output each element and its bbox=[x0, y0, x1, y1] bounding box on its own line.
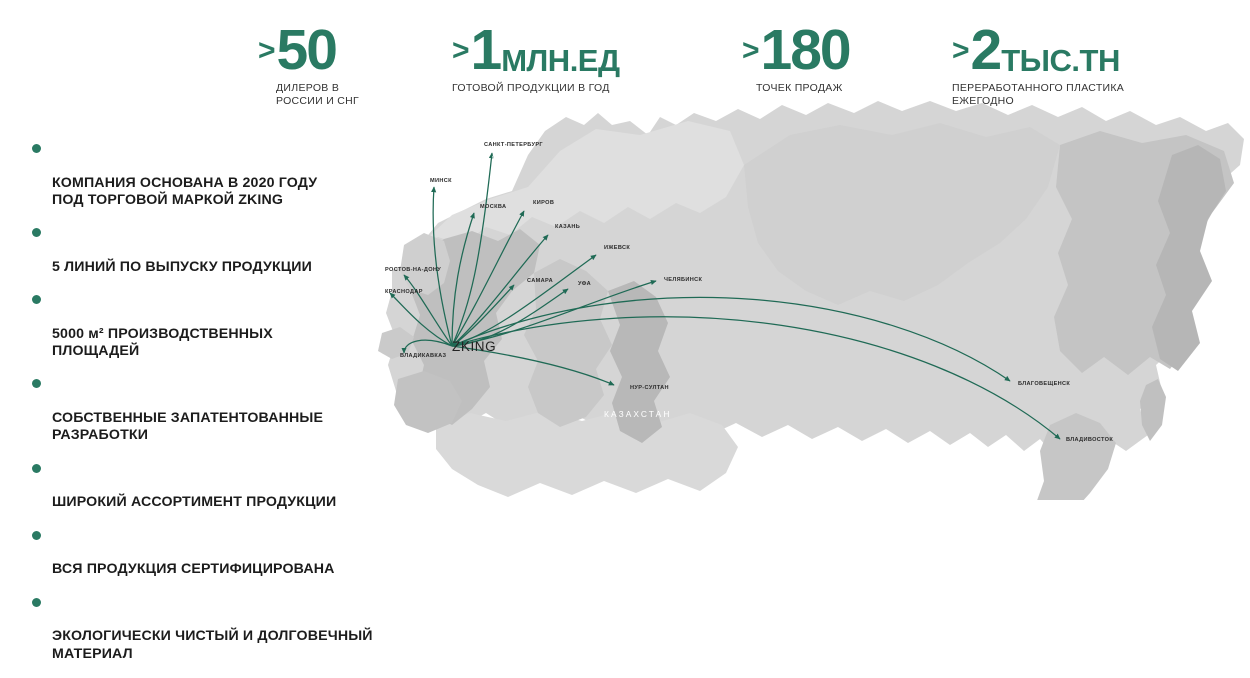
feature-item-certified: ВСЯ ПРОДУКЦИЯ СЕРТИФИЦИРОВАНА bbox=[32, 527, 392, 579]
city-label-samara: САМАРА bbox=[527, 278, 553, 284]
bullet-dot-icon bbox=[32, 379, 41, 388]
stat-plastic-number: 2 bbox=[971, 22, 1001, 79]
stat-points-caption: ТОЧЕК ПРОДАЖ bbox=[756, 82, 851, 95]
greater-than-icon: > bbox=[952, 36, 969, 66]
city-label-rostov-na-donu: РОСТОВ-НА-ДОНУ bbox=[385, 267, 441, 273]
feature-text: 5 ЛИНИЙ ПО ВЫПУСКУ ПРОДУКЦИИ bbox=[52, 259, 312, 275]
bullet-dot-icon bbox=[32, 295, 41, 304]
feature-text: СОБСТВЕННЫЕ ЗАПАТЕНТОВАННЫЕ РАЗРАБОТКИ bbox=[52, 410, 323, 443]
city-label-blagoveshchensk: БЛАГОВЕЩЕНСК bbox=[1018, 381, 1070, 387]
map-landmass bbox=[378, 101, 1244, 500]
feature-item-founded: КОМПАНИЯ ОСНОВАНА В 2020 ГОДУ ПОД ТОРГОВ… bbox=[32, 140, 392, 209]
country-label-belarus: БЕЛАРУСИЯ bbox=[430, 153, 500, 163]
bullet-dot-icon bbox=[32, 144, 41, 153]
infographic-root: БЕЛАРУСИЯ КАЗАХСТАН САНКТ-ПЕТЕРБУРГ МИНС… bbox=[0, 0, 1250, 500]
stat-dealers-caption: ДИЛЕРОВ В РОССИИ И СНГ bbox=[276, 82, 359, 108]
feature-item-assortment: ШИРОКИЙ АССОРТИМЕНТ ПРОДУКЦИИ bbox=[32, 460, 392, 512]
stat-points: > 180 ТОЧЕК ПРОДАЖ bbox=[742, 22, 851, 95]
city-label-nur-sultan: НУР-СУЛТАН bbox=[630, 385, 669, 391]
feature-item-eco: ЭКОЛОГИЧЕСКИ ЧИСТЫЙ И ДОЛГОВЕЧНЫЙ МАТЕРИ… bbox=[32, 594, 392, 663]
country-label-kazakhstan: КАЗАХСТАН bbox=[604, 409, 671, 419]
feature-text: КОМПАНИЯ ОСНОВАНА В 2020 ГОДУ ПОД ТОРГОВ… bbox=[52, 175, 317, 208]
stat-plastic-caption: ПЕРЕРАБОТАННОГО ПЛАСТИКА ЕЖЕГОДНО bbox=[952, 82, 1124, 108]
feature-text: ЭКОЛОГИЧЕСКИ ЧИСТЫЙ И ДОЛГОВЕЧНЫЙ МАТЕРИ… bbox=[52, 628, 373, 661]
stat-units-unit: МЛН.ЕД bbox=[501, 45, 619, 76]
greater-than-icon: > bbox=[258, 36, 275, 66]
stat-plastic: > 2 ТЫС.ТН ПЕРЕРАБОТАННОГО ПЛАСТИКА ЕЖЕГ… bbox=[952, 22, 1124, 108]
city-label-chelyabinsk: ЧЕЛЯБИНСК bbox=[664, 277, 702, 283]
stat-dealers-number: 50 bbox=[277, 22, 336, 79]
stat-plastic-unit: ТЫС.ТН bbox=[1001, 45, 1120, 76]
city-label-vladivostok: ВЛАДИВОСТОК bbox=[1066, 437, 1113, 443]
greater-than-icon: > bbox=[742, 36, 759, 66]
region-kazakhstan bbox=[436, 411, 738, 497]
feature-list: КОМПАНИЯ ОСНОВАНА В 2020 ГОДУ ПОД ТОРГОВ… bbox=[32, 140, 392, 678]
bullet-dot-icon bbox=[32, 531, 41, 540]
city-label-moskva: МОСКВА bbox=[480, 204, 506, 210]
feature-item-area: 5000 м² ПРОИЗВОДСТВЕННЫХ ПЛОЩАДЕЙ bbox=[32, 291, 392, 360]
greater-than-icon: > bbox=[452, 36, 469, 66]
stat-points-value: > 180 bbox=[742, 22, 851, 79]
city-label-ufa: УФА bbox=[578, 281, 591, 287]
city-label-kazan: КАЗАНЬ bbox=[555, 224, 580, 230]
stat-dealers-value: > 50 bbox=[258, 22, 359, 79]
city-label-vladikavkaz: ВЛАДИКАВКАЗ bbox=[400, 353, 446, 359]
feature-text: ВСЯ ПРОДУКЦИЯ СЕРТИФИЦИРОВАНА bbox=[52, 561, 335, 577]
stat-units: > 1 МЛН.ЕД ГОТОВОЙ ПРОДУКЦИИ В ГОД bbox=[452, 22, 620, 95]
stat-dealers: > 50 ДИЛЕРОВ В РОССИИ И СНГ bbox=[258, 22, 359, 108]
stat-units-value: > 1 МЛН.ЕД bbox=[452, 22, 620, 79]
hub-label-zking: ZKING bbox=[452, 339, 496, 354]
feature-text: 5000 м² ПРОИЗВОДСТВЕННЫХ ПЛОЩАДЕЙ bbox=[52, 326, 273, 359]
stats-row: > 50 ДИЛЕРОВ В РОССИИ И СНГ > 1 МЛН.ЕД Г… bbox=[0, 0, 1250, 110]
feature-item-patents: СОБСТВЕННЫЕ ЗАПАТЕНТОВАННЫЕ РАЗРАБОТКИ bbox=[32, 375, 392, 444]
stat-units-caption: ГОТОВОЙ ПРОДУКЦИИ В ГОД bbox=[452, 82, 620, 95]
city-label-minsk: МИНСК bbox=[430, 178, 452, 184]
stat-plastic-value: > 2 ТЫС.ТН bbox=[952, 22, 1124, 79]
bullet-dot-icon bbox=[32, 228, 41, 237]
city-label-sankt-peterburg: САНКТ-ПЕТЕРБУРГ bbox=[484, 142, 543, 148]
stat-points-number: 180 bbox=[761, 22, 850, 79]
feature-item-lines: 5 ЛИНИЙ ПО ВЫПУСКУ ПРОДУКЦИИ bbox=[32, 224, 392, 276]
city-label-izhevsk: ИЖЕВСК bbox=[604, 245, 630, 251]
bullet-dot-icon bbox=[32, 598, 41, 607]
bullet-dot-icon bbox=[32, 464, 41, 473]
stat-units-number: 1 bbox=[471, 22, 501, 79]
feature-text: ШИРОКИЙ АССОРТИМЕНТ ПРОДУКЦИИ bbox=[52, 494, 336, 510]
city-label-kirov: КИРОВ bbox=[533, 200, 554, 206]
